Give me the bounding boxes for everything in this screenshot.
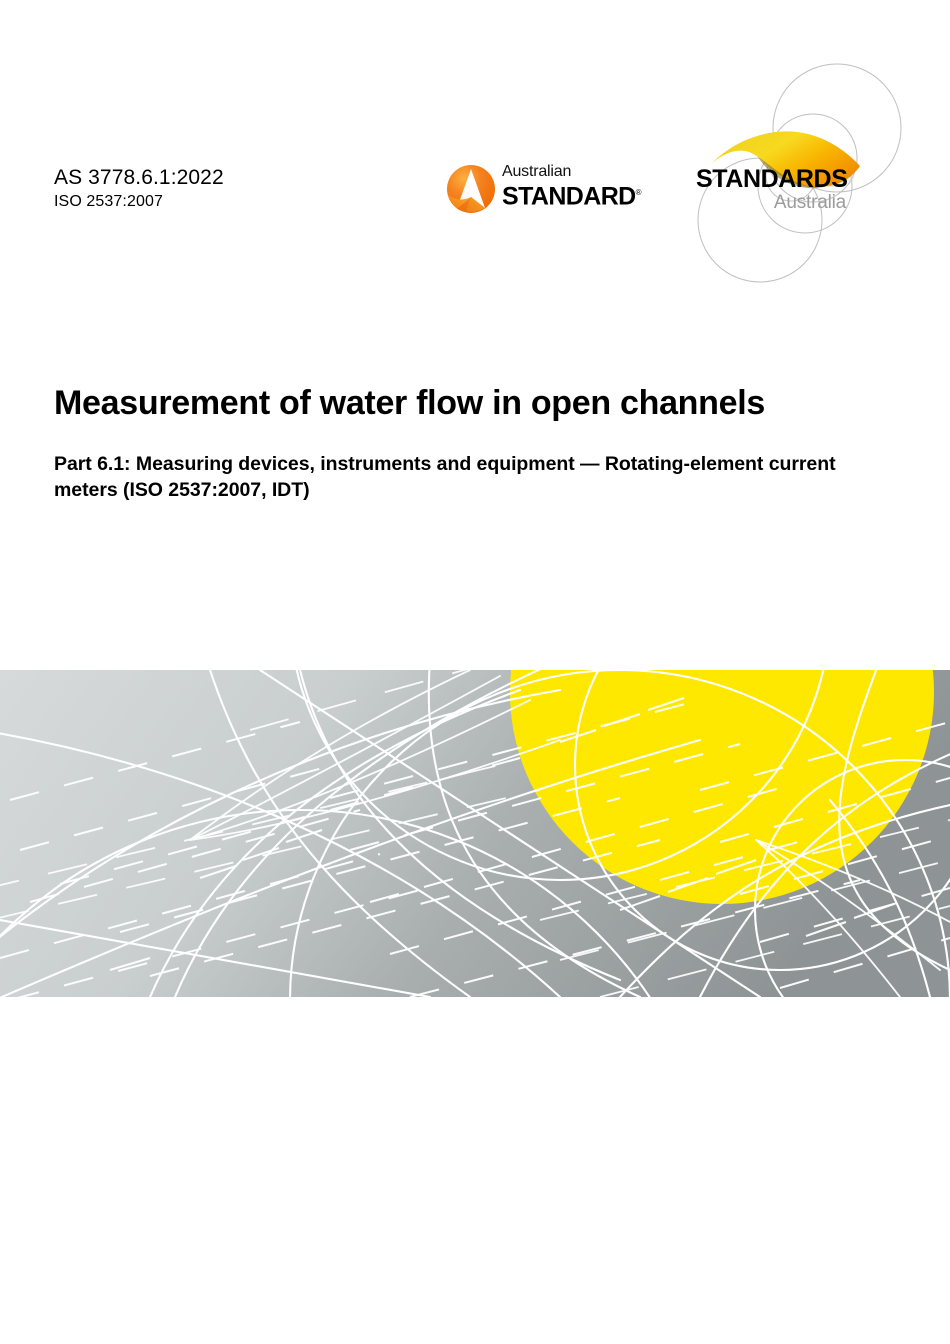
australian-standard-roundel-icon xyxy=(446,164,496,214)
cover-bottom-whitespace xyxy=(0,997,950,1344)
registered-trademark-icon: ® xyxy=(636,188,641,197)
standards-australia-wordmark: STANDARDS Australia xyxy=(696,166,856,213)
document-designation: AS 3778.6.1:2022 ISO 2537:2007 xyxy=(54,165,224,212)
australian-standard-line2-text: STANDARD xyxy=(502,182,636,210)
cover-graphic-band xyxy=(0,670,950,997)
australian-standard-line2: STANDARD® xyxy=(502,180,632,209)
standards-australia-logo: STANDARDS Australia xyxy=(688,58,950,293)
australian-standard-logo: Australian STANDARD® xyxy=(446,161,631,217)
standards-australia-line1: STANDARDS xyxy=(696,166,856,192)
title-block: Measurement of water flow in open channe… xyxy=(54,383,894,503)
abstract-arcs-graphic xyxy=(0,670,950,997)
page-subtitle: Part 6.1: Measuring devices, instruments… xyxy=(54,424,854,503)
standards-australia-line2: Australia xyxy=(696,192,846,213)
australian-standard-wordmark: Australian STANDARD® xyxy=(502,163,632,209)
page-title: Measurement of water flow in open channe… xyxy=(54,383,894,424)
iso-standard-number: ISO 2537:2007 xyxy=(54,191,224,212)
cover-header: AS 3778.6.1:2022 ISO 2537:2007 xyxy=(0,0,950,300)
as-standard-number: AS 3778.6.1:2022 xyxy=(54,165,224,191)
australian-standard-line1: Australian xyxy=(502,163,632,180)
